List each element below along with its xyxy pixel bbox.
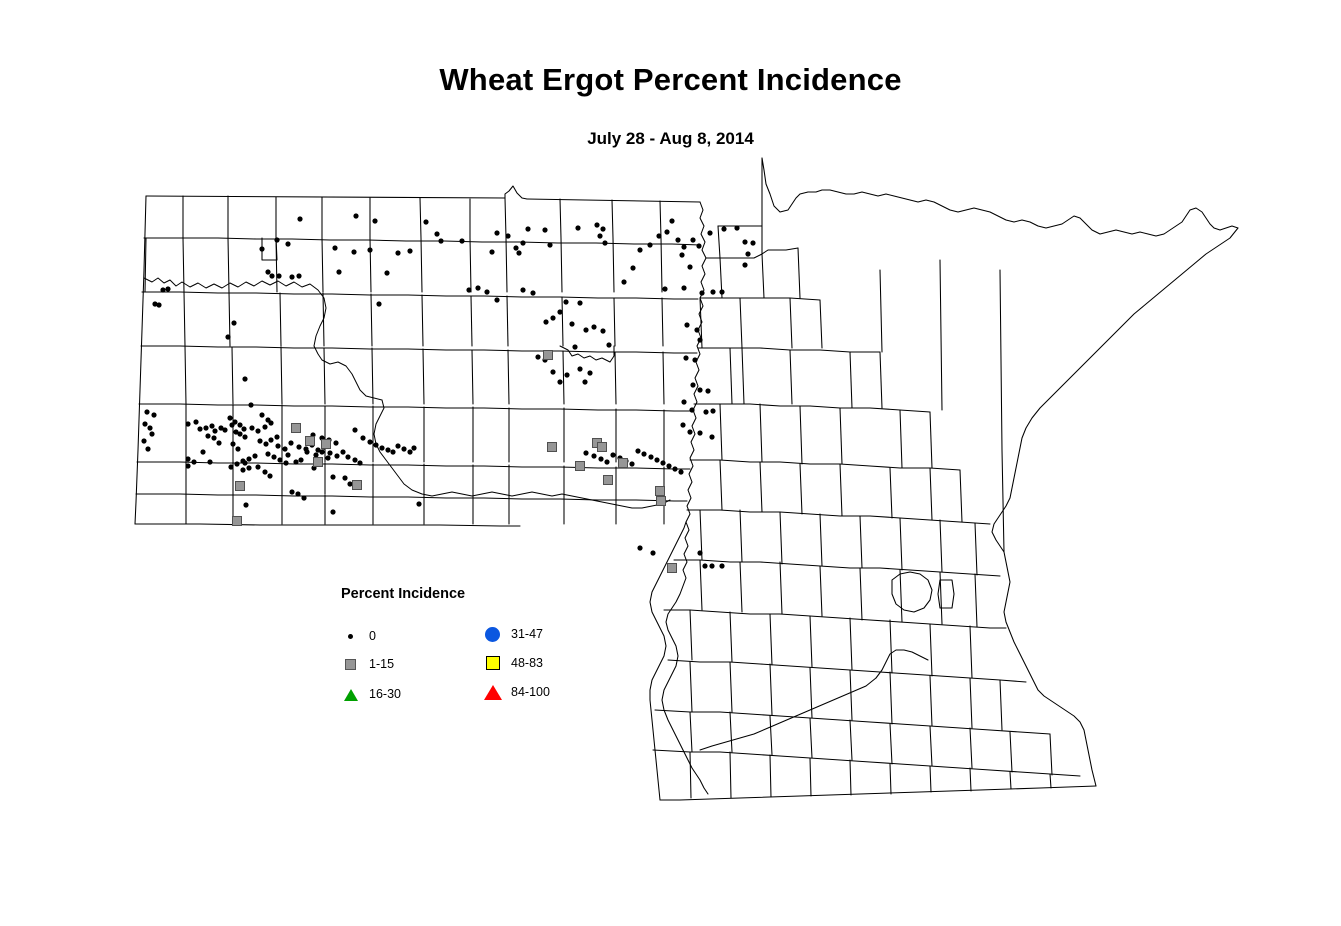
map-point	[314, 458, 323, 467]
map-point	[702, 563, 707, 568]
map-point	[285, 241, 290, 246]
map-point	[295, 491, 300, 496]
map-point	[160, 287, 165, 292]
map-point	[591, 453, 596, 458]
map-point	[721, 226, 726, 231]
map-point	[265, 451, 270, 456]
map-point	[696, 243, 701, 248]
map-point	[543, 319, 548, 324]
map-point	[376, 301, 381, 306]
map-point	[315, 447, 320, 452]
map-point	[301, 495, 306, 500]
map-point	[289, 489, 294, 494]
map-point	[669, 218, 674, 223]
map-point	[384, 270, 389, 275]
map-point	[298, 457, 303, 462]
state-county-outlines	[132, 158, 1238, 800]
map-point	[275, 443, 280, 448]
map-point	[243, 502, 248, 507]
map-point	[353, 481, 362, 490]
map-point	[494, 297, 499, 302]
map-point	[227, 415, 232, 420]
map-point	[289, 274, 294, 279]
minnesota-river	[700, 650, 928, 750]
map-point	[742, 262, 747, 267]
map-point	[390, 449, 395, 454]
map-point	[242, 434, 247, 439]
mn-county-grid	[653, 158, 1080, 798]
map-point	[255, 428, 260, 433]
map-point	[207, 459, 212, 464]
map-point	[367, 247, 372, 252]
map-point	[675, 237, 680, 242]
map-point	[550, 315, 555, 320]
legend-label-0: 0	[369, 626, 376, 646]
map-point	[268, 420, 273, 425]
map-point	[330, 474, 335, 479]
red-triangle-icon	[483, 682, 503, 702]
map-point	[647, 242, 652, 247]
map-point	[664, 229, 669, 234]
map-point	[535, 354, 540, 359]
map-point	[142, 421, 147, 426]
map-point	[351, 249, 356, 254]
map-point	[597, 233, 602, 238]
map-point	[255, 464, 260, 469]
map-point	[619, 459, 628, 468]
map-point	[395, 443, 400, 448]
map-point	[710, 289, 715, 294]
map-point	[236, 482, 245, 491]
map-point	[401, 446, 406, 451]
map-point	[668, 564, 677, 573]
map-point	[411, 445, 416, 450]
map-point	[484, 289, 489, 294]
map-point	[385, 447, 390, 452]
choropleth-map	[0, 150, 1341, 830]
map-point	[654, 457, 659, 462]
map-point	[697, 550, 702, 555]
map-point	[237, 422, 242, 427]
map-point	[191, 459, 196, 464]
map-point	[635, 448, 640, 453]
map-point	[475, 285, 480, 290]
map-point	[650, 550, 655, 555]
map-point	[598, 456, 603, 461]
map-point	[656, 233, 661, 238]
map-point	[745, 251, 750, 256]
map-point	[193, 419, 198, 424]
map-point	[621, 279, 626, 284]
map-point	[267, 473, 272, 478]
map-page: Wheat Ergot Percent Incidence July 28 - …	[0, 0, 1341, 926]
map-point	[564, 372, 569, 377]
map-point	[230, 441, 235, 446]
map-point	[709, 434, 714, 439]
map-point	[216, 440, 221, 445]
map-point	[710, 408, 715, 413]
map-point	[185, 456, 190, 461]
map-point	[530, 290, 535, 295]
map-point	[572, 344, 577, 349]
page-subtitle: July 28 - Aug 8, 2014	[0, 129, 1341, 149]
map-point	[602, 240, 607, 245]
map-point	[548, 443, 557, 452]
map-point	[660, 460, 665, 465]
map-point	[209, 423, 214, 428]
map-point	[681, 244, 686, 249]
map-point	[648, 454, 653, 459]
map-point	[145, 446, 150, 451]
map-point	[703, 409, 708, 414]
map-point	[222, 427, 227, 432]
map-point	[591, 324, 596, 329]
map-point	[360, 435, 365, 440]
map-point	[610, 452, 615, 457]
map-point	[327, 450, 332, 455]
map-point	[606, 342, 611, 347]
map-point	[678, 469, 683, 474]
map-point	[240, 467, 245, 472]
map-point	[641, 451, 646, 456]
legend-label-16-30: 16-30	[369, 684, 401, 704]
map-point	[583, 327, 588, 332]
map-point	[692, 357, 697, 362]
map-point	[600, 328, 605, 333]
map-point	[697, 337, 702, 342]
map-point	[395, 250, 400, 255]
map-point	[547, 242, 552, 247]
map-point	[494, 230, 499, 235]
map-point	[550, 369, 555, 374]
map-point	[165, 286, 170, 291]
map-point	[687, 264, 692, 269]
map-point	[271, 454, 276, 459]
map-point	[750, 240, 755, 245]
map-point	[407, 248, 412, 253]
legend-label-1-15: 1-15	[369, 654, 394, 674]
map-point	[466, 287, 471, 292]
map-point	[347, 481, 352, 486]
map-point	[666, 463, 671, 468]
map-point	[269, 273, 274, 278]
map-point	[276, 273, 281, 278]
legend-label-31-47: 31-47	[511, 624, 543, 644]
map-point	[373, 442, 378, 447]
blue-circle-icon	[483, 624, 503, 644]
map-point	[557, 379, 562, 384]
map-point	[306, 437, 315, 446]
map-point	[637, 545, 642, 550]
map-point	[242, 376, 247, 381]
map-point	[262, 424, 267, 429]
map-point	[434, 231, 439, 236]
map-point	[600, 226, 605, 231]
map-point	[257, 438, 262, 443]
map-point	[330, 509, 335, 514]
map-point	[583, 450, 588, 455]
yellow-square-icon	[483, 653, 503, 673]
map-point	[459, 238, 464, 243]
map-point	[333, 440, 338, 445]
map-point	[212, 428, 217, 433]
map-point	[296, 273, 301, 278]
map-point	[697, 430, 702, 435]
map-point	[345, 454, 350, 459]
map-point	[357, 460, 362, 465]
map-point	[240, 458, 245, 463]
map-point	[684, 322, 689, 327]
map-point	[683, 355, 688, 360]
map-point	[263, 441, 268, 446]
map-point	[336, 269, 341, 274]
map-point	[340, 449, 345, 454]
map-point	[246, 456, 251, 461]
map-point	[694, 327, 699, 332]
map-point	[630, 265, 635, 270]
zero-dot-icon	[341, 626, 361, 646]
map-point	[690, 382, 695, 387]
legend-label-48-83: 48-83	[511, 653, 543, 673]
map-legend: Percent Incidence 0 1-15 16-30 31-47 48-…	[338, 586, 598, 706]
map-point	[544, 351, 553, 360]
map-point	[520, 287, 525, 292]
map-point	[144, 409, 149, 414]
map-point	[232, 419, 237, 424]
map-point	[681, 285, 686, 290]
map-point	[274, 434, 279, 439]
map-point	[303, 446, 308, 451]
map-point	[185, 463, 190, 468]
map-point	[662, 286, 667, 291]
map-point	[156, 302, 161, 307]
map-point	[141, 438, 146, 443]
map-point	[203, 425, 208, 430]
map-point	[293, 459, 298, 464]
map-point	[252, 453, 257, 458]
map-point	[734, 225, 739, 230]
map-point	[248, 402, 253, 407]
map-point	[699, 290, 704, 295]
green-triangle-icon	[341, 684, 361, 704]
map-point	[292, 424, 301, 433]
map-point	[680, 422, 685, 427]
map-point	[379, 445, 384, 450]
map-point	[719, 563, 724, 568]
map-point	[681, 399, 686, 404]
map-point	[200, 449, 205, 454]
map-point	[637, 247, 642, 252]
map-point	[542, 227, 547, 232]
map-point	[259, 246, 264, 251]
map-point	[416, 501, 421, 506]
map-point	[604, 459, 609, 464]
map-point	[575, 225, 580, 230]
map-point	[285, 452, 290, 457]
map-point	[322, 440, 331, 449]
map-point	[228, 464, 233, 469]
map-point	[705, 388, 710, 393]
map-point	[594, 222, 599, 227]
map-point	[234, 461, 239, 466]
map-point	[576, 462, 585, 471]
map-point	[690, 237, 695, 242]
map-point	[149, 431, 154, 436]
map-point	[423, 219, 428, 224]
map-point	[233, 517, 242, 526]
map-container	[0, 150, 1341, 830]
map-point	[274, 237, 279, 242]
map-point	[629, 461, 634, 466]
map-point	[246, 465, 251, 470]
map-point	[235, 446, 240, 451]
map-point	[563, 299, 568, 304]
map-point	[719, 289, 724, 294]
map-point	[557, 309, 562, 314]
gray-square-icon	[341, 654, 361, 674]
map-point	[687, 429, 692, 434]
map-point	[268, 437, 273, 442]
map-point	[225, 334, 230, 339]
map-point	[249, 425, 254, 430]
map-point	[151, 412, 156, 417]
map-point	[407, 449, 412, 454]
map-point	[237, 431, 242, 436]
map-point	[332, 245, 337, 250]
map-point	[656, 487, 665, 496]
map-point	[569, 321, 574, 326]
map-point	[709, 563, 714, 568]
map-point	[672, 466, 677, 471]
map-point	[147, 425, 152, 430]
map-point	[679, 252, 684, 257]
map-point	[283, 460, 288, 465]
map-point	[197, 426, 202, 431]
map-point	[367, 439, 372, 444]
map-point	[334, 453, 339, 458]
map-point	[657, 497, 666, 506]
map-point	[587, 370, 592, 375]
map-point	[520, 240, 525, 245]
map-point	[697, 387, 702, 392]
map-point	[352, 427, 357, 432]
map-point	[372, 218, 377, 223]
map-point	[525, 226, 530, 231]
map-point	[505, 233, 510, 238]
map-point	[598, 443, 607, 452]
map-point	[262, 469, 267, 474]
map-point	[516, 250, 521, 255]
map-point	[282, 446, 287, 451]
map-point	[297, 216, 302, 221]
map-point	[513, 245, 518, 250]
map-point	[352, 457, 357, 462]
map-point	[582, 379, 587, 384]
legend-label-84-100: 84-100	[511, 682, 550, 702]
map-point	[577, 366, 582, 371]
page-title: Wheat Ergot Percent Incidence	[0, 62, 1341, 98]
map-point	[489, 249, 494, 254]
map-point	[313, 452, 318, 457]
map-point	[277, 457, 282, 462]
map-point	[438, 238, 443, 243]
map-point	[325, 455, 330, 460]
map-point	[296, 444, 301, 449]
map-point	[742, 239, 747, 244]
map-point	[211, 435, 216, 440]
map-point	[288, 440, 293, 445]
legend-title: Percent Incidence	[341, 586, 465, 602]
map-point	[231, 320, 236, 325]
minnesota-outline	[650, 158, 1238, 800]
map-point	[342, 475, 347, 480]
map-point	[604, 476, 613, 485]
map-point	[577, 300, 582, 305]
map-point	[241, 426, 246, 431]
map-point	[707, 230, 712, 235]
map-point	[689, 407, 694, 412]
map-point	[353, 213, 358, 218]
map-point	[259, 412, 264, 417]
map-point	[205, 433, 210, 438]
map-point	[265, 269, 270, 274]
map-point	[185, 421, 190, 426]
